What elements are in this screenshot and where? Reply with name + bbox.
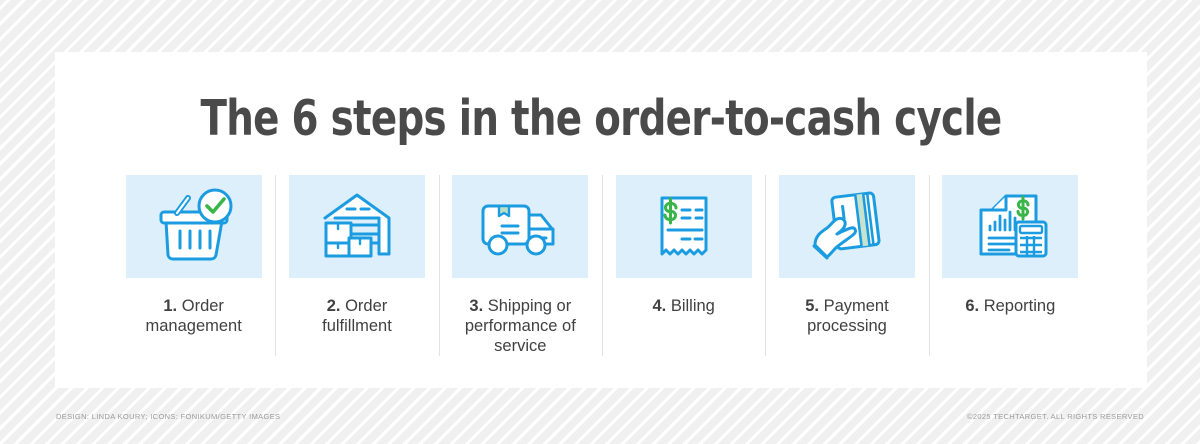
step-3-label: 3. Shipping or performance of service [455, 296, 585, 356]
footer: DESIGN: LINDA KOURY; ICONS: FONIKUM/GETT… [0, 412, 1200, 428]
report-calculator-icon [964, 188, 1056, 266]
step-1-text: Order management [146, 297, 242, 335]
step-6-label: 6. Reporting [965, 296, 1055, 316]
step-1-label: 1. Order management [129, 296, 259, 336]
step-3-icon-panel [452, 175, 588, 278]
step-5-label: 5. Payment processing [782, 296, 912, 336]
design-credit: DESIGN: LINDA KOURY; ICONS: FONIKUM/GETT… [56, 412, 280, 421]
step-4-number: 4. [652, 297, 666, 315]
steps-row: 1. Order management [112, 175, 1092, 356]
page-title: The 6 steps in the order-to-cash cycle [121, 52, 1082, 143]
delivery-truck-icon [474, 188, 566, 266]
step-2-icon-panel [289, 175, 425, 278]
step-4-icon-panel [616, 175, 752, 278]
infographic-card: The 6 steps in the order-to-cash cycle [55, 52, 1147, 388]
step-4-label: 4. Billing [652, 296, 714, 316]
step-6-reporting: 6. Reporting [929, 175, 1092, 356]
step-4-text: Billing [671, 297, 715, 315]
warehouse-boxes-icon [311, 188, 403, 266]
copyright-notice: ©2025 TECHTARGET. ALL RIGHTS RESERVED [967, 412, 1144, 421]
step-2-order-fulfillment: 2. Order fulfillment [275, 175, 438, 356]
step-5-text: Payment processing [807, 297, 889, 335]
step-5-icon-panel [779, 175, 915, 278]
step-2-number: 2. [327, 297, 341, 315]
step-4-billing: 4. Billing [602, 175, 765, 356]
step-1-icon-panel [126, 175, 262, 278]
step-5-number: 5. [805, 297, 819, 315]
step-2-label: 2. Order fulfillment [292, 296, 422, 336]
hand-credit-card-icon [801, 188, 893, 266]
step-6-icon-panel [942, 175, 1078, 278]
receipt-dollar-icon [638, 188, 730, 266]
step-3-number: 3. [469, 297, 483, 315]
step-1-number: 1. [163, 297, 177, 315]
step-5-payment-processing: 5. Payment processing [765, 175, 928, 356]
step-1-order-management: 1. Order management [112, 175, 275, 356]
step-6-text: Reporting [984, 297, 1056, 315]
step-6-number: 6. [965, 297, 979, 315]
step-3-shipping: 3. Shipping or performance of service [439, 175, 602, 356]
shopping-basket-check-icon [148, 188, 240, 266]
